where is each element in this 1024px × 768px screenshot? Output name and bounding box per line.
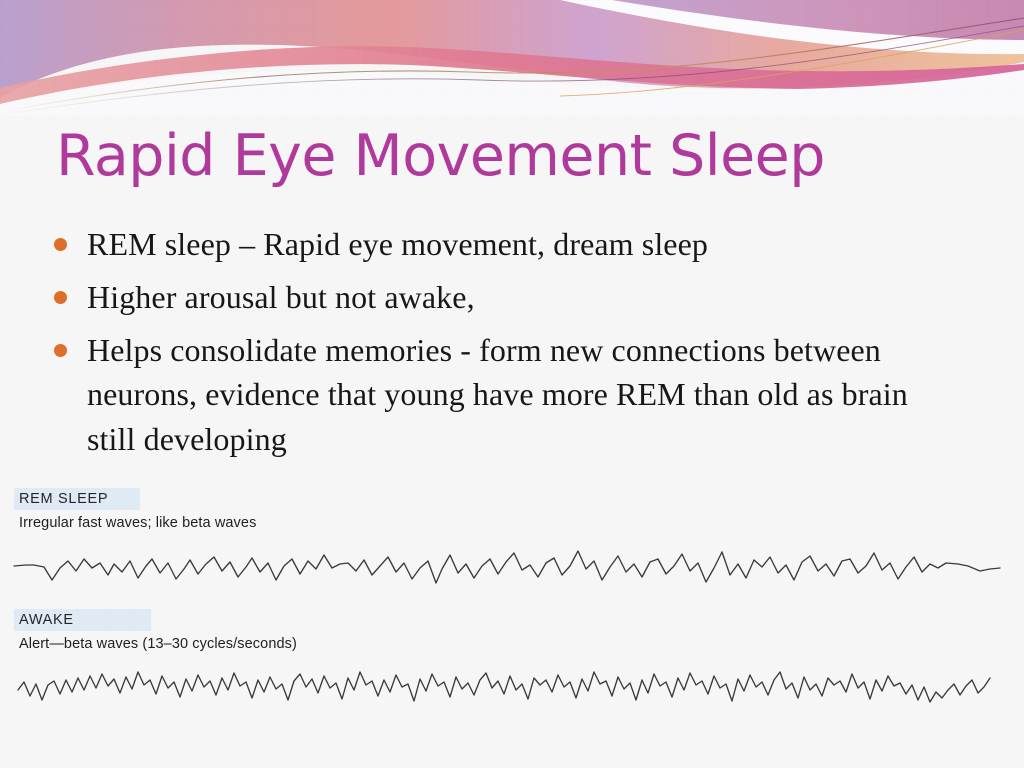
- bullet-text: Higher arousal but not awake,: [87, 275, 475, 319]
- bullet-text: REM sleep – Rapid eye movement, dream sl…: [87, 222, 708, 266]
- bullet-dot-icon: [54, 344, 67, 357]
- bullet-dot-icon: [54, 291, 67, 304]
- eeg-block-rem-sleep: REM SLEEP Irregular fast waves; like bet…: [0, 488, 1024, 595]
- eeg-trace-rem-sleep: [0, 533, 1024, 595]
- list-item: Higher arousal but not awake,: [54, 275, 954, 319]
- presentation-slide: Rapid Eye Movement Sleep REM sleep – Rap…: [0, 0, 1024, 768]
- eeg-stage-label-awake: AWAKE: [14, 609, 151, 631]
- eeg-path-rem: [14, 551, 1000, 583]
- eeg-trace-awake: [0, 654, 1024, 716]
- list-item: REM sleep – Rapid eye movement, dream sl…: [54, 222, 954, 266]
- bullet-dot-icon: [54, 238, 67, 251]
- eeg-figure: REM SLEEP Irregular fast waves; like bet…: [0, 488, 1024, 716]
- bullet-text: Helps consolidate memories - form new co…: [87, 328, 954, 460]
- eeg-caption-awake: Alert—beta waves (13–30 cycles/seconds): [19, 636, 1024, 652]
- eeg-block-awake: AWAKE Alert—beta waves (13–30 cycles/sec…: [0, 609, 1024, 716]
- banner-swoosh-graphic: [0, 0, 1024, 116]
- page-title: Rapid Eye Movement Sleep: [56, 127, 825, 187]
- eeg-stage-label-rem: REM SLEEP: [14, 488, 140, 510]
- eeg-path-awake: [18, 672, 990, 702]
- bullet-list: REM sleep – Rapid eye movement, dream sl…: [54, 222, 954, 470]
- decorative-header-banner: [0, 0, 1024, 116]
- eeg-caption-rem: Irregular fast waves; like beta waves: [19, 515, 1024, 531]
- list-item: Helps consolidate memories - form new co…: [54, 328, 954, 460]
